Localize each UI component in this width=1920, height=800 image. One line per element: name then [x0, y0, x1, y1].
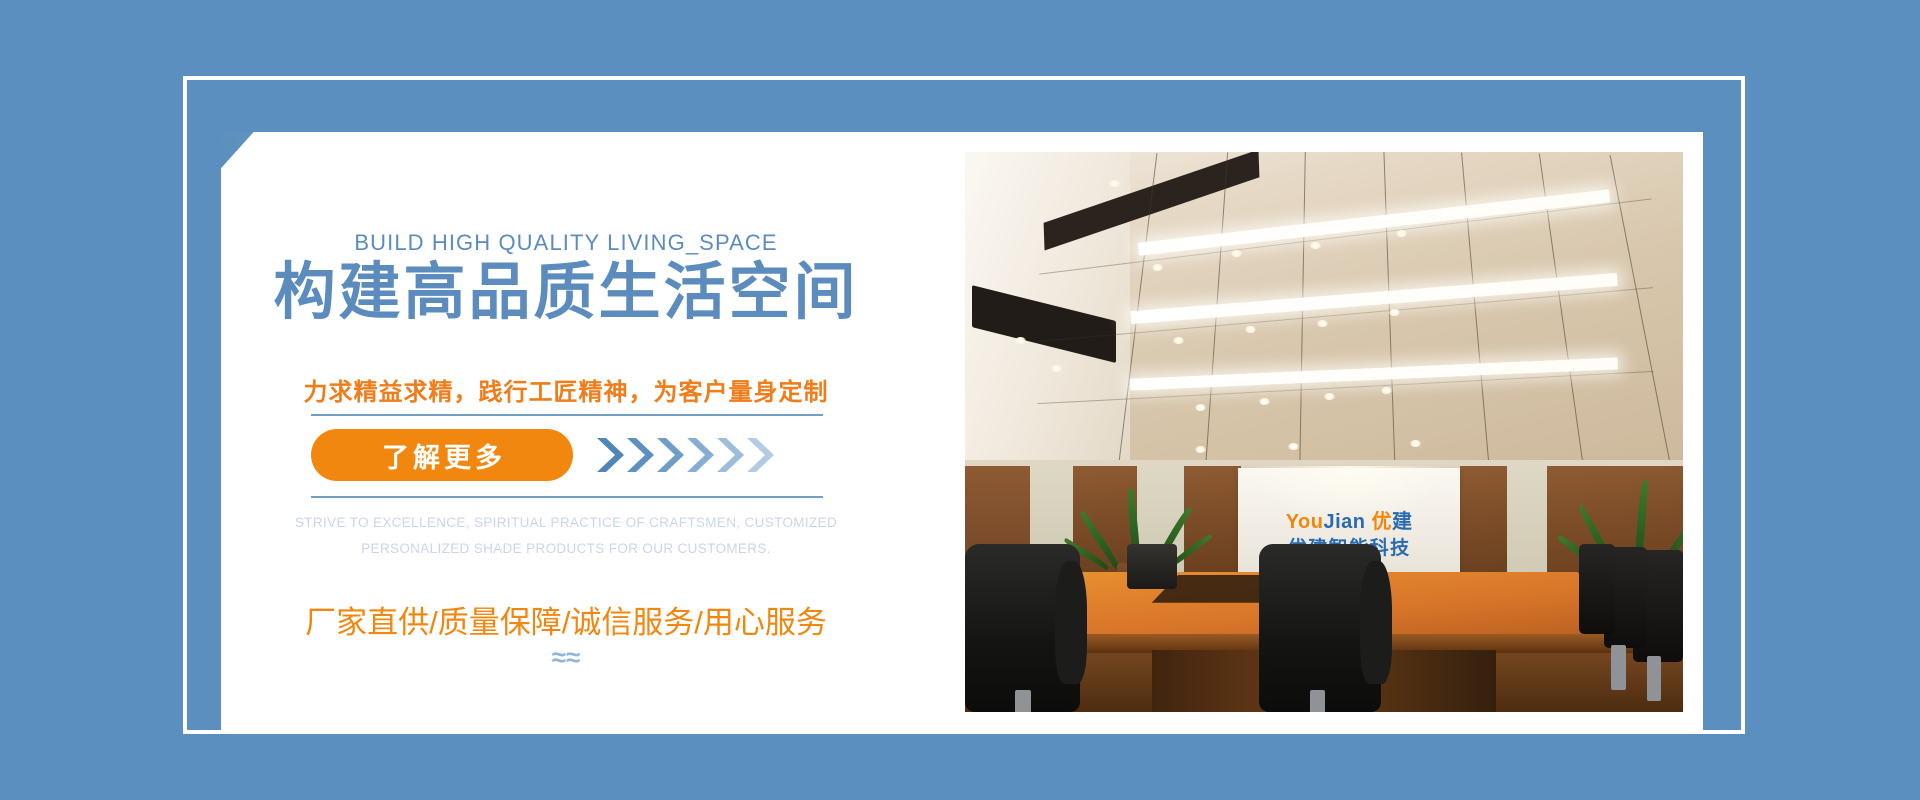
downlight-icon — [1051, 365, 1062, 372]
chair-arm-center — [1360, 561, 1392, 684]
wave-divider-icon: ≈≈ — [221, 644, 911, 670]
logo-brand-line: YouJian优建 — [1238, 510, 1461, 535]
chair-base-stem — [1611, 645, 1625, 690]
logo-cn-you: 优 — [1372, 511, 1393, 533]
downlight-icon — [1389, 309, 1400, 316]
chevron-right-icon — [625, 435, 655, 475]
chevron-right-icon — [595, 435, 625, 475]
chevron-arrow-group — [595, 435, 775, 475]
chair-arm-left — [1055, 561, 1087, 684]
hero-fineprint: STRIVE TO EXCELLENCE, SPIRITUAL PRACTICE… — [276, 510, 856, 563]
downlight-icon — [1195, 404, 1206, 411]
hero-eyebrow: BUILD HIGH QUALITY LIVING_SPACE — [221, 230, 911, 256]
chevron-right-icon — [685, 435, 715, 475]
hero-text-column: BUILD HIGH QUALITY LIVING_SPACE 构建高品质生活空… — [221, 132, 911, 732]
divider-bottom — [311, 496, 823, 498]
logo-jian: Jian — [1324, 511, 1366, 533]
hero-subheadline: 力求精益求精，践行工匠精神，为客户量身定制 — [221, 372, 911, 407]
downlight-icon — [1310, 242, 1321, 249]
chevron-right-icon — [715, 435, 745, 475]
chair-base-stem — [1647, 656, 1661, 701]
chair-right-row — [1579, 544, 1615, 634]
downlight-icon — [1015, 337, 1026, 344]
chevron-right-icon — [745, 435, 775, 475]
divider-top — [311, 414, 823, 416]
learn-more-button[interactable]: 了解更多 — [311, 429, 573, 481]
downlight-icon — [1324, 393, 1335, 400]
chair-far-side — [1127, 544, 1177, 589]
downlight-icon — [1195, 446, 1206, 453]
cta-row: 了解更多 — [311, 427, 823, 483]
downlight-icon — [1173, 337, 1184, 344]
chevron-right-icon — [655, 435, 685, 475]
conference-room-photo: YouJian优建 优建智能科技 — [965, 152, 1683, 712]
downlight-icon — [1231, 250, 1242, 257]
chair-base-stem — [1310, 690, 1326, 712]
banner-card: 厂家直供 BUILD HIGH QUALITY LIVING_SPACE 构建高… — [221, 132, 1703, 732]
logo-you: You — [1286, 511, 1324, 533]
downlight-icon — [1245, 326, 1256, 333]
logo-cn-jian: 建 — [1392, 511, 1413, 533]
fineprint-line-2: PERSONALIZED SHADE PRODUCTS FOR OUR CUST… — [276, 536, 856, 562]
hero-headline: 构建高品质生活空间 — [221, 257, 911, 328]
downlight-icon — [1152, 264, 1163, 271]
hero-tagline: 厂家直供/质量保障/诚信服务/用心服务 — [221, 597, 911, 642]
fineprint-line-1: STRIVE TO EXCELLENCE, SPIRITUAL PRACTICE… — [276, 510, 856, 536]
chair-base-stem — [1015, 690, 1031, 712]
downlight-icon — [1317, 320, 1328, 327]
downlight-icon — [1109, 180, 1120, 187]
